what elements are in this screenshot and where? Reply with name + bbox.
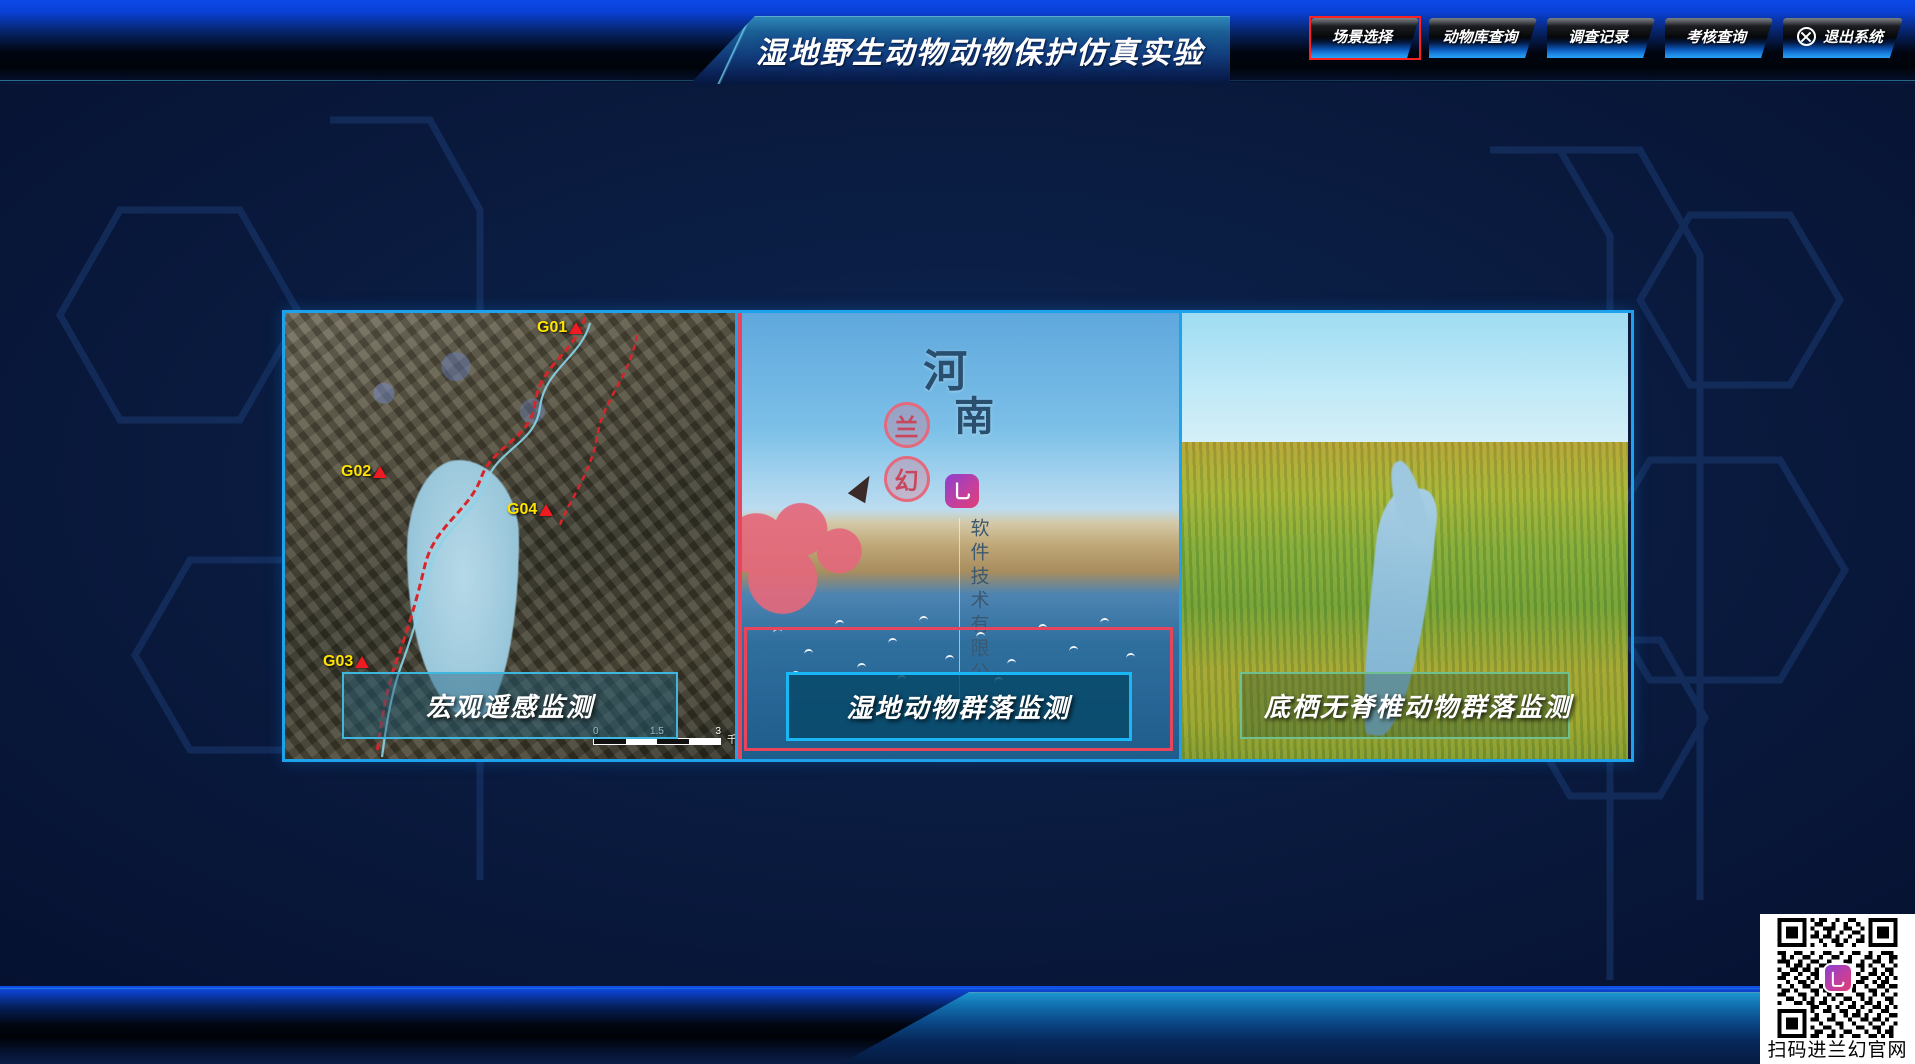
poster-seal-lan: 兰 xyxy=(884,402,930,448)
scene-card-label-wrap: 湿地动物群落监测 xyxy=(738,672,1179,741)
map-marker-g04[interactable]: G04 xyxy=(507,501,553,519)
marker-triangle-icon xyxy=(373,466,387,478)
marker-triangle-icon xyxy=(355,656,369,668)
nav-button-label: 退出系统 xyxy=(1783,18,1903,58)
page-title: 湿地野生动物动物保护仿真实验 xyxy=(690,16,1230,84)
qr-center-logo-icon: 乚 xyxy=(1823,963,1853,993)
footer-accent-shape xyxy=(840,992,1915,1064)
poster-seal-huan: 幻 xyxy=(884,456,930,502)
sky-region xyxy=(1182,313,1628,447)
scene-card-wetland-animal-community[interactable]: 河 南 兰 幻 乚 软件技术有限公司 湿地动物群落监测 xyxy=(735,313,1182,759)
exit-system-label: 退出系统 xyxy=(1823,26,1883,47)
app-footer xyxy=(0,986,1915,1064)
nav-button-animal-database[interactable]: 动物库查询 xyxy=(1429,18,1537,58)
title-banner: 湿地野生动物动物保护仿真实验 xyxy=(690,16,1230,84)
map-marker-label: G03 xyxy=(323,653,353,671)
scene-card-label-wrap: 宏观遥感监测 xyxy=(285,672,735,739)
qr-code-image: 乚 xyxy=(1764,918,1911,1038)
map-marker-label: G01 xyxy=(537,319,567,337)
nav-button-label: 场景选择 xyxy=(1311,18,1419,58)
application-root: 湿地野生动物动物保护仿真实验 场景选择 动物库查询 调查记录 考核查询 退出系统 xyxy=(0,0,1915,1064)
nav-button-label: 动物库查询 xyxy=(1429,18,1537,58)
qr-code-panel[interactable]: 乚 扫码进兰幻官网 xyxy=(1760,914,1915,1064)
selected-left-edge xyxy=(738,313,742,759)
lanhuan-logo-icon: 乚 xyxy=(945,474,979,508)
nav-button-label: 考核查询 xyxy=(1665,18,1773,58)
nav-button-scene-select[interactable]: 场景选择 xyxy=(1311,18,1419,58)
scene-card-label-wetland-animal-community[interactable]: 湿地动物群落监测 xyxy=(786,672,1132,741)
map-marker-label: G04 xyxy=(507,501,537,519)
nav-button-survey-record[interactable]: 调查记录 xyxy=(1547,18,1655,58)
scene-selection-panel: G01 G02 G03 G04 0 xyxy=(282,310,1634,762)
exit-system-button[interactable]: 退出系统 xyxy=(1783,18,1903,58)
close-circle-icon xyxy=(1797,27,1816,46)
marker-triangle-icon xyxy=(539,504,553,516)
map-marker-label: G02 xyxy=(341,463,371,481)
qr-caption: 扫码进兰幻官网 xyxy=(1764,1038,1911,1064)
scene-card-label-macro-remote-sensing[interactable]: 宏观遥感监测 xyxy=(342,672,678,739)
nav-button-label: 调查记录 xyxy=(1547,18,1655,58)
scene-card-benthic-invertebrate-community[interactable]: 底栖无脊椎动物群落监测 xyxy=(1182,313,1628,759)
scale-bar-graphic xyxy=(593,738,721,745)
map-marker-g03[interactable]: G03 xyxy=(323,653,369,671)
top-navigation: 场景选择 动物库查询 调查记录 考核查询 退出系统 xyxy=(1311,18,1903,58)
scene-card-label-benthic-invertebrate-community[interactable]: 底栖无脊椎动物群落监测 xyxy=(1240,672,1570,739)
scene-card-label-wrap: 底栖无脊椎动物群落监测 xyxy=(1182,672,1628,739)
scene-card-macro-remote-sensing[interactable]: G01 G02 G03 G04 0 xyxy=(285,313,735,759)
nav-button-assessment-query[interactable]: 考核查询 xyxy=(1665,18,1773,58)
poster-heading-nan: 南 xyxy=(954,384,994,442)
map-marker-g01[interactable]: G01 xyxy=(537,319,583,337)
marker-triangle-icon xyxy=(569,322,583,334)
auspicious-cloud-graphic xyxy=(738,469,914,647)
map-marker-g02[interactable]: G02 xyxy=(341,463,387,481)
